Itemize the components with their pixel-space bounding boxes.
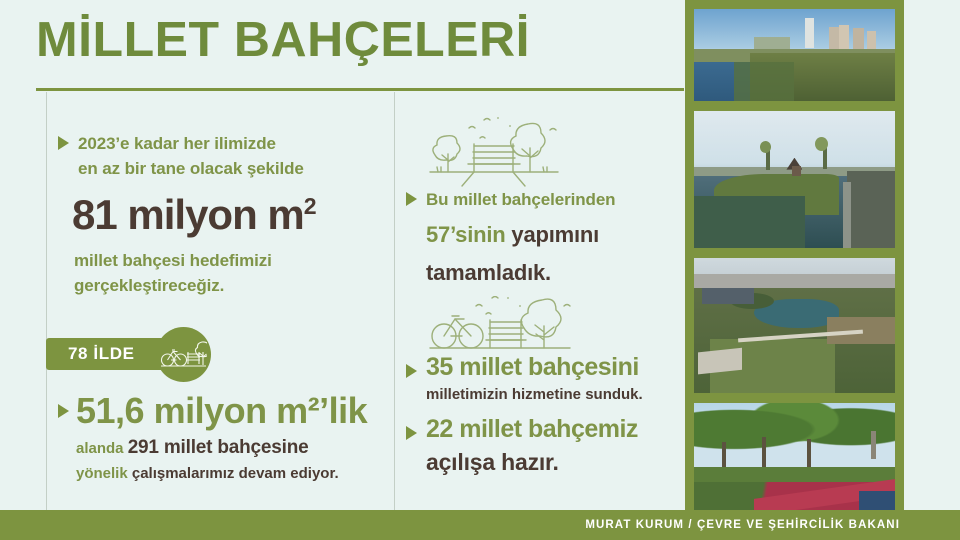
park-lake-city-skyline-photo: [694, 9, 895, 101]
right-block1-line2: 57’sinin yapımını: [426, 219, 676, 251]
left-block1-highlight-sup: 2: [304, 193, 316, 219]
right-block1-line1: Bu millet bahçelerinden: [426, 188, 676, 213]
right-block3-line2: açılışa hazır.: [426, 446, 686, 479]
left-block2-line3: yönelik çalışmalarımız devam ediyor.: [76, 463, 388, 484]
aerial-park-lake-photo: [694, 258, 895, 393]
right-block3-line1: 22 millet bahçemiz: [426, 416, 686, 442]
bicycle-bench-tree-icon: [156, 327, 211, 382]
left-block1-highlight-text: 81 milyon m: [72, 191, 304, 238]
bicycle-bench-tree-birds-icon: [424, 296, 574, 354]
footer-bar: MURAT KURUM / ÇEVRE VE ŞEHİRCİLİK BAKANI: [0, 510, 960, 540]
infographic-canvas: MİLLET BAHÇELERİ 2023’e kadar her ilimiz…: [0, 0, 960, 540]
left-block-1: 2023’e kadar her ilimizde en az bir tane…: [58, 132, 388, 299]
left-block2-highlight: 51,6 milyon m²’lik: [76, 392, 388, 430]
right-block2-line1: 35 millet bahçesini: [426, 354, 686, 380]
provinces-badge-label: 78 İLDE: [68, 344, 135, 364]
right-block-3: 22 millet bahçemiz açılışa hazır.: [406, 416, 686, 480]
right-block-1: Bu millet bahçelerinden 57’sinin yapımın…: [406, 188, 676, 288]
left-block2-line3-strong: çalışmalarımız devam ediyor.: [132, 465, 339, 482]
bullet-arrow-icon: [58, 404, 69, 418]
left-block1-line2: en az bir tane olacak şekilde: [78, 157, 388, 182]
left-block1-line4: gerçekleştireceğiz.: [74, 274, 388, 299]
right-block-2: 35 millet bahçesini milletimizin hizmeti…: [406, 354, 686, 405]
center-column-divider: [394, 92, 395, 510]
left-block2-line3-prefix: yönelik: [76, 465, 132, 482]
bullet-arrow-icon: [406, 364, 417, 378]
footer-credit: MURAT KURUM / ÇEVRE VE ŞEHİRCİLİK BAKANI: [585, 510, 900, 540]
left-block2-line2-strong: 291 millet bahçesine: [128, 437, 309, 458]
left-column-divider: [46, 92, 47, 510]
left-block-2: 51,6 milyon m²’lik alanda 291 millet bah…: [58, 392, 388, 484]
tree-lined-path-flowers-photo: [694, 403, 895, 510]
park-lake-gazebo-photo: [694, 111, 895, 248]
left-block1-line3: millet bahçesi hedefimizi: [74, 249, 388, 274]
bullet-arrow-icon: [406, 192, 417, 206]
title-underline: [36, 88, 684, 91]
right-block1-line2-dark: yapımını: [511, 222, 599, 247]
right-block2-line2: milletimizin hizmetine sunduk.: [426, 384, 686, 405]
left-block1-line1: 2023’e kadar her ilimizde: [78, 132, 388, 157]
bullet-arrow-icon: [406, 426, 417, 440]
left-block2-line2: alanda 291 millet bahçesine: [76, 434, 388, 462]
trees-bench-birds-icon: [424, 116, 564, 188]
photo-panel: [685, 0, 904, 540]
left-block1-highlight: 81 milyon m2: [72, 193, 388, 237]
page-title: MİLLET BAHÇELERİ: [36, 16, 530, 65]
left-block2-line2-prefix: alanda: [76, 440, 128, 457]
bullet-arrow-icon: [58, 136, 69, 150]
right-block1-line2-lite: 57’sinin: [426, 222, 511, 247]
right-block1-line3: tamamladık.: [426, 257, 676, 289]
